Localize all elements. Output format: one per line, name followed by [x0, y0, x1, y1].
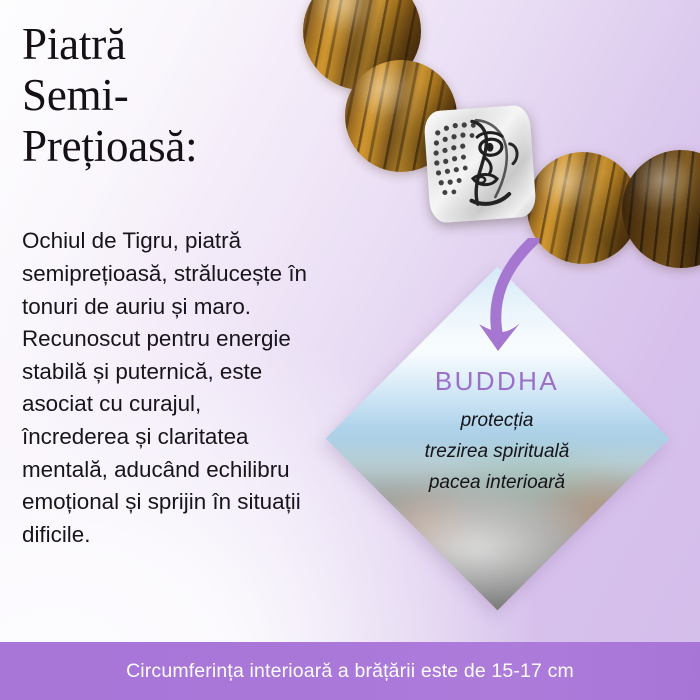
- curved-down-arrow-icon: [470, 238, 585, 363]
- headline-line-2: Semi-: [22, 70, 322, 121]
- bead-texture: [622, 150, 700, 268]
- bead-texture: [345, 60, 457, 172]
- promo-graphic-canvas: Piatră Semi- Prețioasă: Ochiul de Tigru,…: [0, 0, 700, 700]
- headline-line-1: Piatră: [22, 19, 322, 70]
- headline-line-3: Prețioasă:: [22, 121, 322, 172]
- silver-buddha-head-bead: [423, 104, 537, 223]
- description-text: Ochiul de Tigru, piatră semiprețioasă, s…: [22, 225, 310, 551]
- footer-banner: Circumferința interioară a brățării este…: [0, 642, 700, 700]
- tiger-eye-bead: [622, 150, 700, 268]
- tiger-eye-bead: [345, 60, 457, 172]
- page-title: Piatră Semi- Prețioasă:: [22, 19, 322, 172]
- footer-text: Circumferința interioară a brățării este…: [126, 660, 574, 683]
